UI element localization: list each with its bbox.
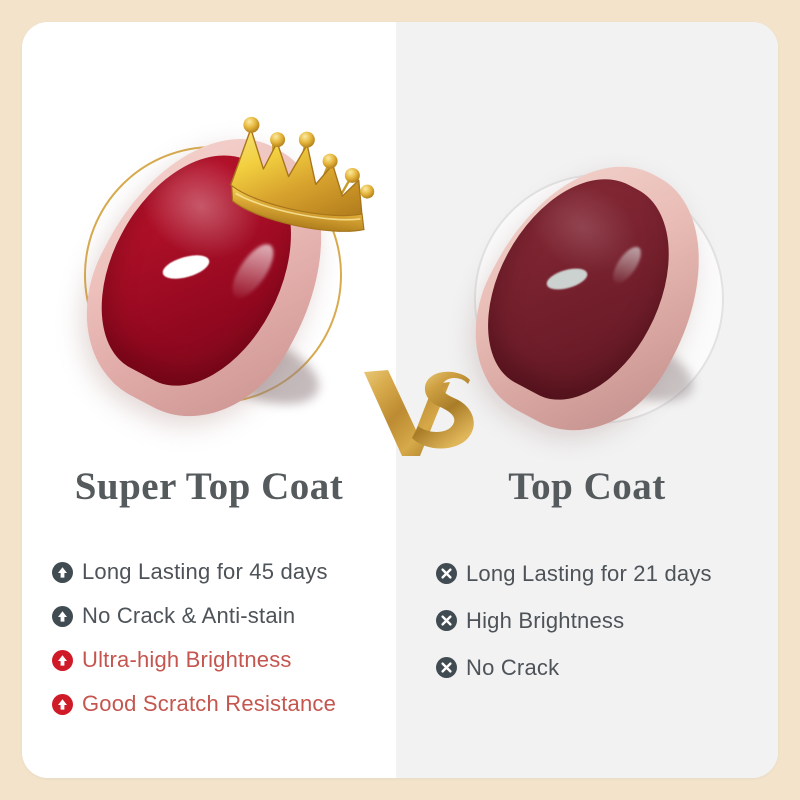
feature-list-left: Long Lasting for 45 days No Crack & Anti… [52, 550, 396, 726]
arrow-up-circle-icon [52, 562, 73, 583]
feature-text: High Brightness [466, 608, 624, 634]
feature-text: Long Lasting for 45 days [82, 559, 328, 585]
panel-super-top-coat: Super Top Coat Long Lasting for 45 days … [22, 22, 396, 778]
list-item: No Crack & Anti-stain [52, 594, 396, 638]
list-item: High Brightness [436, 597, 776, 644]
list-item: No Crack [436, 644, 776, 691]
hero-left [22, 22, 396, 442]
arrow-up-circle-icon [52, 650, 73, 671]
x-circle-icon [436, 610, 457, 631]
feature-text: No Crack & Anti-stain [82, 603, 295, 629]
arrow-up-circle-icon [52, 694, 73, 715]
list-item: Long Lasting for 21 days [436, 550, 776, 597]
list-item: Long Lasting for 45 days [52, 550, 396, 594]
list-item: Good Scratch Resistance [52, 682, 396, 726]
arrow-up-circle-icon [52, 606, 73, 627]
feature-text: Ultra-high Brightness [82, 647, 292, 673]
vs-logo-icon [358, 356, 486, 460]
x-circle-icon [436, 563, 457, 584]
feature-text: Good Scratch Resistance [82, 691, 336, 717]
feature-list-right: Long Lasting for 21 days High Brightness [436, 550, 776, 691]
crown-icon [210, 91, 390, 243]
comparison-infographic: Super Top Coat Long Lasting for 45 days … [0, 0, 800, 800]
list-item: Ultra-high Brightness [52, 638, 396, 682]
x-circle-icon [436, 657, 457, 678]
comparison-card: Super Top Coat Long Lasting for 45 days … [22, 22, 778, 778]
feature-text: No Crack [466, 655, 559, 681]
page-title-right: Top Coat [396, 464, 778, 511]
page-title-left: Super Top Coat [22, 464, 396, 511]
feature-text: Long Lasting for 21 days [466, 561, 712, 587]
